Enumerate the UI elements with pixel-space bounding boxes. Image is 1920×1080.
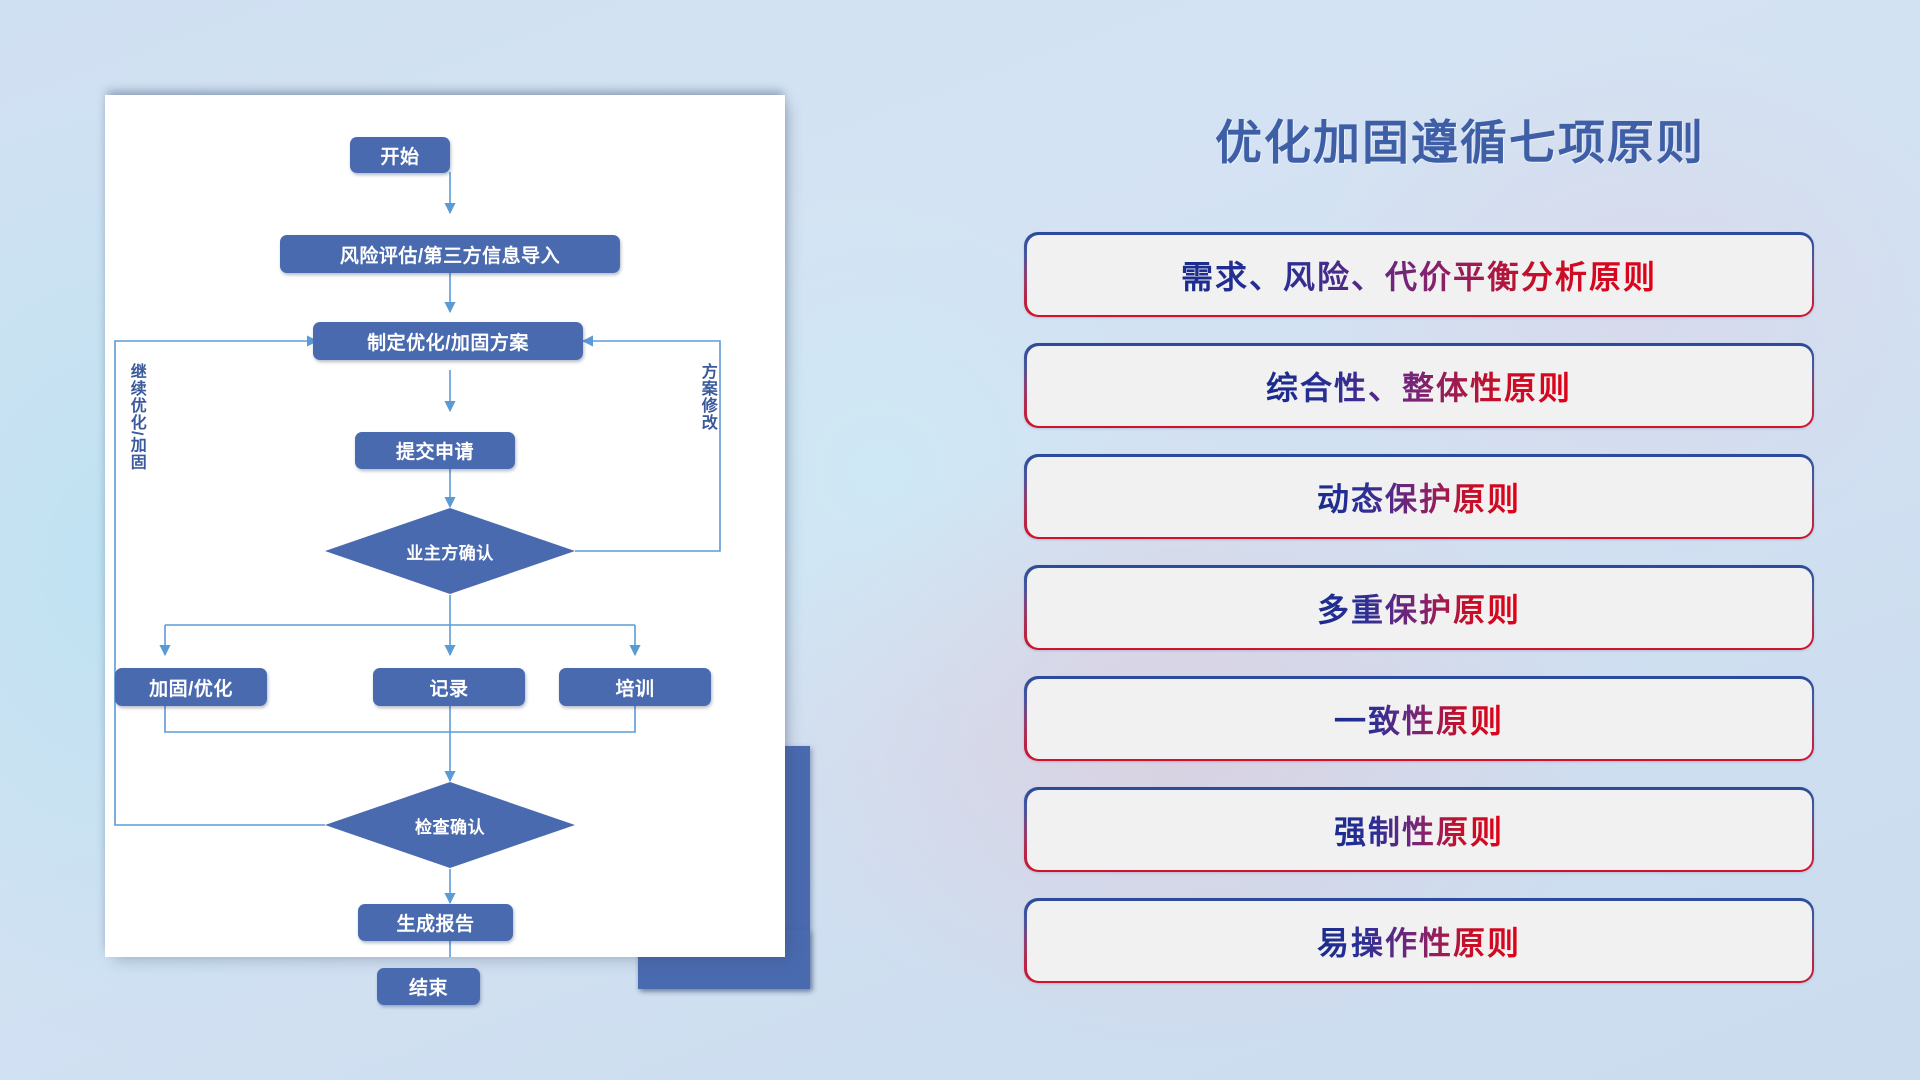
flowchart-diagram: 开始 风险评估/第三方信息导入 制定优化/加固方案 提交申请 业主方确认 加固/…: [105, 95, 785, 957]
flowchart-panel: 开始 风险评估/第三方信息导入 制定优化/加固方案 提交申请 业主方确认 加固/…: [0, 0, 900, 1080]
principle-item-body: 易操作性原则: [1027, 901, 1812, 981]
principle-item[interactable]: 需求、风险、代价平衡分析原则: [1024, 232, 1814, 317]
principle-item-label: 动态保护原则: [1317, 474, 1521, 520]
principle-item[interactable]: 强制性原则: [1024, 787, 1814, 872]
flowchart-card: 开始 风险评估/第三方信息导入 制定优化/加固方案 提交申请 业主方确认 加固/…: [105, 95, 785, 957]
flow-node-record-label: 记录: [429, 674, 468, 701]
principle-item-label: 综合性、整体性原则: [1266, 363, 1572, 409]
principle-item-label: 强制性原则: [1334, 807, 1504, 853]
principle-item-body: 多重保护原则: [1027, 568, 1812, 648]
flow-node-start-label: 开始: [380, 142, 419, 169]
flow-node-end[interactable]: 结束: [377, 968, 480, 1005]
flow-node-plan-label: 制定优化/加固方案: [367, 328, 529, 355]
flow-edge-label-continue-optimize: 继续优化/加固: [127, 363, 144, 533]
principle-item-label: 易操作性原则: [1317, 918, 1521, 964]
principle-item[interactable]: 动态保护原则: [1024, 454, 1814, 539]
flow-node-risk-assessment[interactable]: 风险评估/第三方信息导入: [280, 235, 620, 273]
flow-node-end-label: 结束: [409, 973, 448, 1000]
flow-node-report[interactable]: 生成报告: [358, 904, 513, 941]
principle-item[interactable]: 综合性、整体性原则: [1024, 343, 1814, 428]
principles-panel: 优化加固遵循七项原则 需求、风险、代价平衡分析原则 综合性、整体性原则 动态保护…: [1000, 0, 1920, 1080]
principle-item[interactable]: 多重保护原则: [1024, 565, 1814, 650]
flow-node-submit-label: 提交申请: [396, 437, 474, 464]
principle-list: 需求、风险、代价平衡分析原则 综合性、整体性原则 动态保护原则 多重保护原则 一…: [1024, 232, 1814, 1009]
flow-node-submit[interactable]: 提交申请: [355, 432, 515, 469]
principle-item-label: 多重保护原则: [1317, 585, 1521, 631]
principle-item[interactable]: 易操作性原则: [1024, 898, 1814, 983]
flow-node-owner-confirm-label: 业主方确认: [406, 539, 494, 564]
principle-item-label: 需求、风险、代价平衡分析原则: [1181, 252, 1657, 298]
principle-item-body: 综合性、整体性原则: [1027, 346, 1812, 426]
principle-item-body: 需求、风险、代价平衡分析原则: [1027, 235, 1812, 315]
flow-node-reinforce[interactable]: 加固/优化: [115, 668, 267, 706]
flow-node-record[interactable]: 记录: [373, 668, 525, 706]
flow-node-reinforce-label: 加固/优化: [149, 674, 233, 701]
principle-item-body: 一致性原则: [1027, 679, 1812, 759]
flow-node-training[interactable]: 培训: [559, 668, 711, 706]
flow-node-inspect-confirm-label: 检查确认: [415, 813, 485, 838]
page-title: 优化加固遵循七项原则: [1000, 104, 1920, 173]
principle-item-body: 动态保护原则: [1027, 457, 1812, 537]
flow-node-training-label: 培训: [615, 674, 654, 701]
principle-item-label: 一致性原则: [1334, 696, 1504, 742]
principle-item-body: 强制性原则: [1027, 790, 1812, 870]
flow-node-start[interactable]: 开始: [350, 137, 450, 173]
flow-node-report-label: 生成报告: [396, 909, 474, 936]
flow-node-risk-assessment-label: 风险评估/第三方信息导入: [340, 241, 560, 268]
principle-item[interactable]: 一致性原则: [1024, 676, 1814, 761]
flow-edge-label-plan-revision: 方案修改: [698, 363, 715, 473]
flow-node-plan[interactable]: 制定优化/加固方案: [313, 322, 583, 360]
